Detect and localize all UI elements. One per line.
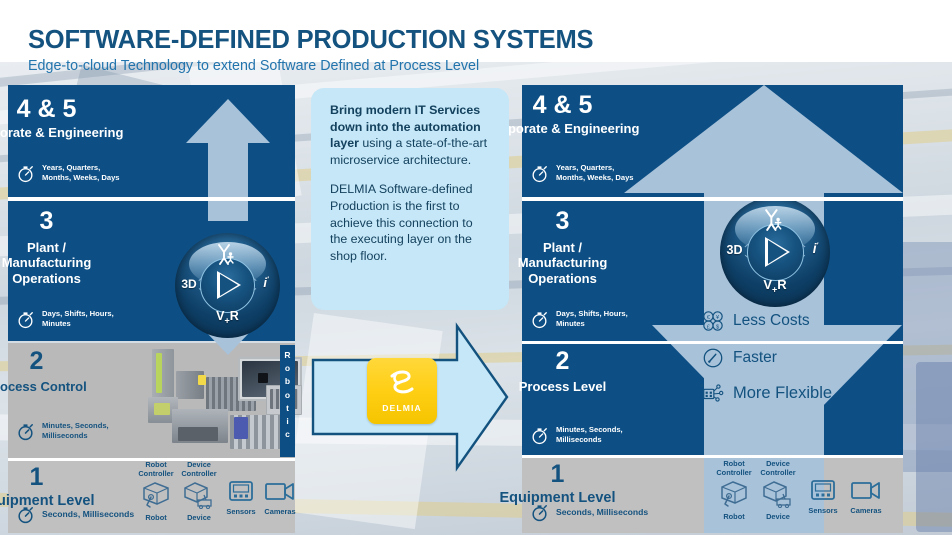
3dexperience-compass[interactable]: 3D i′ V+R xyxy=(175,233,280,338)
right-eq-cameras[interactable]: Cameras xyxy=(842,478,890,516)
benefit-less-costs-label: Less Costs xyxy=(733,312,810,330)
delmia-brand-text: DELMIA xyxy=(367,403,437,413)
left-level-4-5-timing: Years, Quarters, Months, Weeks, Days xyxy=(16,163,120,183)
robot-controller-icon xyxy=(717,478,751,508)
3dexperience-compass-right[interactable]: 3D i′ V+R xyxy=(720,197,830,307)
up-arrow-left xyxy=(186,99,270,221)
social-figure-icon xyxy=(762,208,788,231)
left-level-4-5-timing-text: Years, Quarters, Months, Weeks, Days xyxy=(42,163,120,183)
camera-icon xyxy=(850,478,882,502)
benefit-faster: Faster xyxy=(702,347,777,369)
benefit-faster-label: Faster xyxy=(733,349,777,367)
stopwatch-icon xyxy=(530,310,549,329)
svg-text:$: $ xyxy=(716,324,719,330)
3ds-swirl-icon xyxy=(383,368,421,400)
left-level-2-timing: Minutes, Seconds, Milliseconds xyxy=(16,421,109,441)
left-pyramid-panel: Robotic 3D i′ V+R xyxy=(8,85,295,533)
svg-text:£: £ xyxy=(707,324,710,330)
left-eq-device-bottom-caption: Device xyxy=(176,514,222,523)
slide-canvas: SOFTWARE-DEFINED PRODUCTION SYSTEMS Edge… xyxy=(0,0,952,535)
right-eq-robot-bottom-caption: Robot xyxy=(710,513,758,522)
callout-paragraph-2: DELMIA Software-defined Production is th… xyxy=(330,181,493,264)
right-equipment-icon-row: Robot Controller Robot Device Controller xyxy=(710,460,900,533)
right-separator-2 xyxy=(522,341,903,344)
left-eq-device-top-caption: Device Controller xyxy=(176,461,222,478)
right-eq-device[interactable]: Device Controller Device xyxy=(754,460,802,522)
device-controller-icon xyxy=(182,479,216,509)
benefit-more-flexible: More Flexible xyxy=(700,382,832,404)
right-eq-cameras-caption: Cameras xyxy=(842,507,890,516)
right-eq-device-bottom-caption: Device xyxy=(754,513,802,522)
left-eq-device[interactable]: Device Controller Device xyxy=(176,461,222,523)
sensor-icon xyxy=(809,478,837,502)
delmia-transition-arrow: DELMIA xyxy=(311,322,511,472)
stopwatch-icon xyxy=(16,505,35,524)
left-level-4-5-number: 4 & 5 xyxy=(0,97,190,122)
left-separator-2 xyxy=(8,458,295,461)
flexible-network-icon xyxy=(700,382,724,404)
left-eq-cameras-caption: Cameras xyxy=(257,508,303,517)
right-eq-sensors-caption: Sensors xyxy=(800,507,846,516)
left-separator-1 xyxy=(8,197,295,201)
compass-3d-label-right: 3D xyxy=(722,243,747,257)
left-level-3-timing: Days, Shifts, Hours, Minutes xyxy=(16,309,114,329)
delmia-logo-tile[interactable]: DELMIA xyxy=(367,358,437,424)
right-eq-robot-top-caption: Robot Controller xyxy=(710,460,758,477)
left-level-4-5-name: Corporate & Engineering xyxy=(0,125,190,140)
left-level-1-timing: Seconds, Milliseconds xyxy=(16,505,134,524)
robot-controller-icon xyxy=(139,479,173,509)
compass-vr-label: V+R xyxy=(175,309,280,326)
right-pyramid-panel: 3D i′ V+R 4 & 5 Corporate & Engineering xyxy=(522,85,903,533)
sensor-icon xyxy=(227,479,255,503)
compass-vr-label-right: V+R xyxy=(720,277,830,295)
left-level-1-timing-text: Seconds, Milliseconds xyxy=(42,509,134,520)
compass-i-label: i′ xyxy=(254,275,278,290)
right-eq-device-top-caption: Device Controller xyxy=(754,460,802,477)
robotic-vertical-label: Robotic xyxy=(280,345,295,457)
left-eq-robot[interactable]: Robot Controller Robot xyxy=(133,461,179,523)
left-level-3-name: Plant / Manufacturing Operations xyxy=(0,240,190,286)
callout-box: Bring modern IT Services down into the a… xyxy=(311,88,509,310)
compass-3d-label: 3D xyxy=(177,277,201,291)
currency-coins-icon: € ¥ £ $ xyxy=(702,310,724,332)
stopwatch-icon xyxy=(530,164,549,183)
device-controller-icon xyxy=(761,478,795,508)
left-level-3-number: 3 xyxy=(0,209,190,234)
stopwatch-icon xyxy=(16,310,35,329)
benefit-more-flexible-label: More Flexible xyxy=(733,384,832,403)
right-eq-sensors[interactable]: Sensors xyxy=(800,478,846,516)
right-separator-1 xyxy=(522,197,903,201)
left-eq-cameras[interactable]: Cameras xyxy=(257,479,303,517)
right-eq-robot[interactable]: Robot Controller Robot xyxy=(710,460,758,522)
page-title: SOFTWARE-DEFINED PRODUCTION SYSTEMS xyxy=(28,26,593,55)
stopwatch-icon xyxy=(530,426,549,445)
stopwatch-icon xyxy=(16,164,35,183)
left-equipment-icon-row: Robot Controller Robot Device Controller xyxy=(133,461,295,533)
svg-text:€: € xyxy=(707,315,710,321)
benefit-less-costs: € ¥ £ $ Less Costs xyxy=(702,310,810,332)
plc-hardware-photo xyxy=(146,347,282,452)
social-figure-icon xyxy=(215,243,240,265)
camera-icon xyxy=(264,479,296,503)
left-level-3-timing-text: Days, Shifts, Hours, Minutes xyxy=(42,309,114,329)
page-subtitle: Edge-to-cloud Technology to extend Softw… xyxy=(28,58,479,74)
left-eq-robot-top-caption: Robot Controller xyxy=(133,461,179,478)
stopwatch-icon xyxy=(16,422,35,441)
callout-paragraph-1: Bring modern IT Services down into the a… xyxy=(330,102,493,168)
right-separator-3 xyxy=(522,455,903,458)
slide-header: SOFTWARE-DEFINED PRODUCTION SYSTEMS Edge… xyxy=(0,0,952,62)
compass-i-label-right: i′ xyxy=(803,241,828,256)
stopwatch-icon xyxy=(530,503,549,522)
left-level-2-timing-text: Minutes, Seconds, Milliseconds xyxy=(42,421,109,441)
speed-gauge-icon xyxy=(702,347,724,369)
left-eq-robot-bottom-caption: Robot xyxy=(133,514,179,523)
